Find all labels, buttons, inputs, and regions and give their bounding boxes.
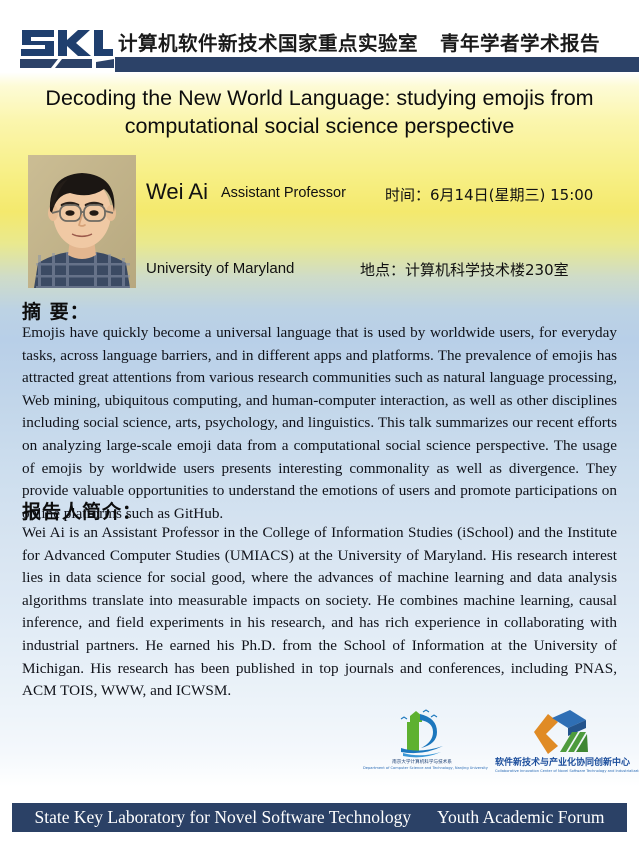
cic-logo-caption-en: Collaborative Innovation Center of Novel… <box>495 769 625 774</box>
nju-logo-caption-en: Department of Computer Science and Techn… <box>363 766 481 771</box>
page-title: Decoding the New World Language: studyin… <box>20 84 619 140</box>
speaker-role: Assistant Professor <box>221 185 346 201</box>
header-accent-bar <box>115 57 639 72</box>
footer-text: State Key Laboratory for Novel Software … <box>12 803 627 832</box>
footer-logos: 南京大学计算机科学与技术系 Department of Computer Sci… <box>355 708 625 788</box>
cic-logo: 软件新技术与产业化协同创新中心 Collaborative Innovation… <box>495 708 625 774</box>
nju-logo: 南京大学计算机科学与技术系 Department of Computer Sci… <box>363 708 481 771</box>
footer-forum-name: Youth Academic Forum <box>437 807 604 827</box>
skl-logo-icon <box>18 22 114 68</box>
footer-bar: State Key Laboratory for Novel Software … <box>12 803 627 832</box>
series-name-cn: 青年学者学术报告 <box>440 32 600 55</box>
title-line-1: Decoding the New World Language: studyin… <box>20 84 619 112</box>
lab-name-cn: 计算机软件新技术国家重点实验室 <box>118 32 418 55</box>
cic-logo-caption-cn: 软件新技术与产业化协同创新中心 <box>495 758 625 769</box>
header-title: 计算机软件新技术国家重点实验室青年学者学术报告 <box>118 27 633 56</box>
talk-place: 地点：计算机科学技术楼230室 <box>360 259 569 280</box>
abstract-text: Emojis have quickly become a universal l… <box>22 322 617 525</box>
speaker-affiliation: University of Maryland <box>146 260 294 277</box>
bio-text: Wei Ai is an Assistant Professor in the … <box>22 522 617 703</box>
talk-time: 时间：6月14日(星期三) 15:00 <box>385 184 593 205</box>
bio-heading: 报告人简介： <box>22 497 142 524</box>
poster-header: 计算机软件新技术国家重点实验室青年学者学术报告 <box>0 0 639 74</box>
footer-lab-name: State Key Laboratory for Novel Software … <box>35 807 412 827</box>
speaker-block: Wei Ai Assistant Professor 时间：6月14日(星期三)… <box>0 155 639 295</box>
title-line-2: computational social science perspective <box>20 112 619 140</box>
speaker-photo <box>28 155 136 288</box>
seminar-poster: 计算机软件新技术国家重点实验室青年学者学术报告 Decoding the New… <box>0 0 639 846</box>
abstract-heading: 摘 要： <box>22 297 90 324</box>
speaker-name: Wei Ai <box>146 179 208 205</box>
nju-logo-caption-cn: 南京大学计算机科学与技术系 <box>363 760 481 766</box>
